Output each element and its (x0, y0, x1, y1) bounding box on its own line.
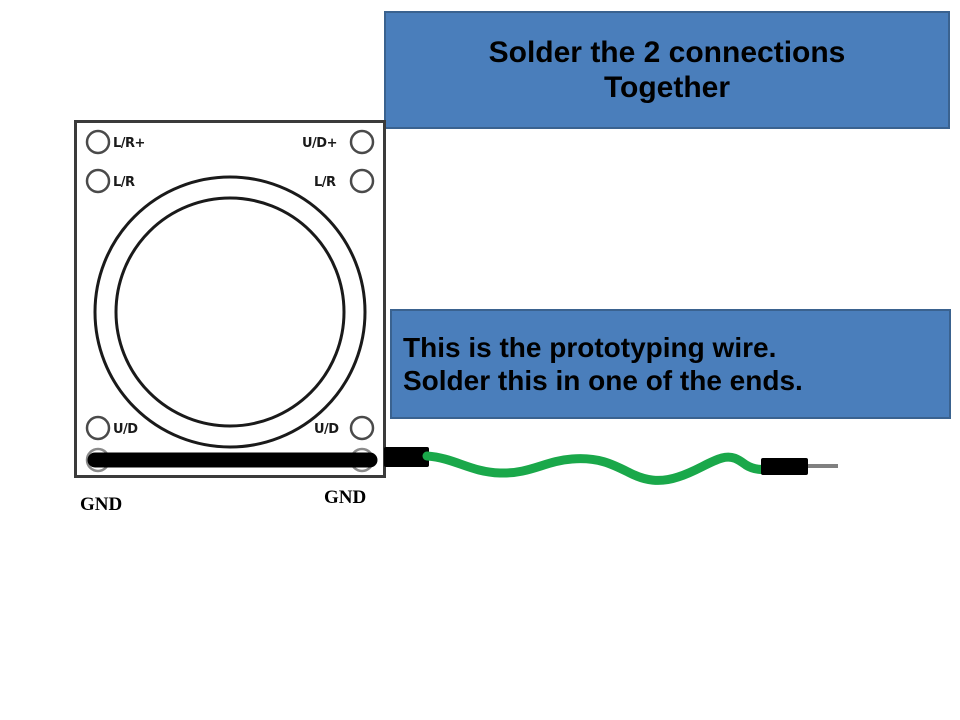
pad-lr-plus-hole (87, 131, 109, 153)
gnd-label-right: GND (324, 487, 366, 509)
encoder-inner-ring (116, 198, 344, 426)
slide-canvas: Solder the 2 connections Together This i… (0, 0, 960, 720)
wire-right-connector (761, 458, 808, 475)
pad-ud-plus-hole (351, 131, 373, 153)
wire-left-connector (384, 447, 429, 467)
pad-ud-left-hole (87, 417, 109, 439)
pad-gnd-right-hole (351, 449, 373, 471)
rotary-encoder-board: L/R+ L/R U/D+ L/R U/D U/D (74, 120, 386, 478)
callout-prototyping-wire: This is the prototyping wire. Solder thi… (390, 309, 951, 419)
callout-solder-connections: Solder the 2 connections Together (384, 11, 950, 129)
pad-lr-right-hole (351, 170, 373, 192)
pad-lr-left-hole (87, 170, 109, 192)
pad-ud-right-hole (351, 417, 373, 439)
prototyping-wire-green (427, 456, 772, 480)
encoder-outer-ring (95, 177, 365, 447)
pad-label-lr-left: L/R (113, 175, 135, 190)
pad-label-ud-left: U/D (113, 422, 138, 437)
callout-bottom-line-2: Solder this in one of the ends. (403, 364, 938, 397)
pad-label-lr-right: L/R (314, 175, 336, 190)
pad-label-ud-right: U/D (314, 422, 339, 437)
callout-top-line-2: Together (396, 70, 938, 105)
pad-label-ud-plus: U/D+ (302, 136, 337, 151)
gnd-label-left: GND (80, 494, 122, 516)
pad-label-lr-plus: L/R+ (113, 136, 145, 151)
pad-gnd-left-hole (87, 449, 109, 471)
callout-bottom-line-1: This is the prototyping wire. (403, 331, 938, 364)
callout-top-line-1: Solder the 2 connections (396, 35, 938, 70)
